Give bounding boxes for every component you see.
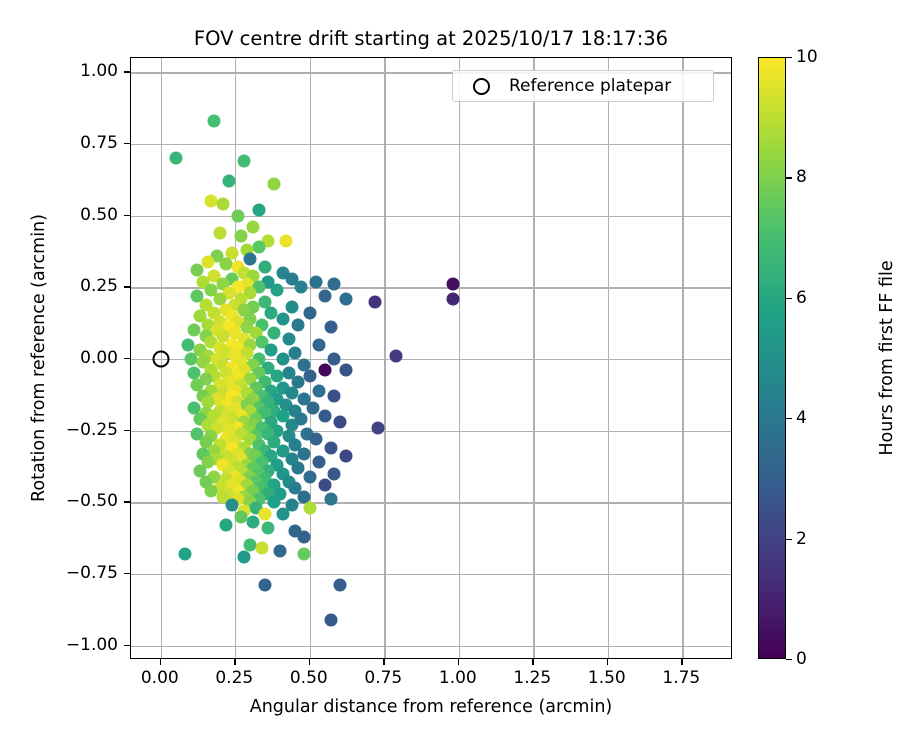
gridline-horizontal <box>131 216 731 217</box>
y-tick-mark <box>124 358 130 359</box>
scatter-point <box>276 312 289 325</box>
scatter-point <box>318 479 331 492</box>
scatter-point <box>247 516 260 529</box>
scatter-point <box>274 545 287 558</box>
scatter-point <box>339 450 352 463</box>
scatter-point <box>268 178 281 191</box>
scatter-point <box>253 241 266 254</box>
scatter-point <box>324 441 337 454</box>
scatter-point <box>259 507 272 520</box>
scatter-point <box>339 292 352 305</box>
x-tick-label: 1.50 <box>572 668 642 688</box>
scatter-point <box>291 318 304 331</box>
scatter-point <box>339 364 352 377</box>
colorbar-tick-mark <box>786 177 792 178</box>
scatter-point <box>318 364 331 377</box>
scatter-point <box>288 347 301 360</box>
scatter-point <box>220 519 233 532</box>
scatter-point <box>333 579 346 592</box>
x-tick-mark <box>532 659 533 665</box>
scatter-point <box>303 307 316 320</box>
y-tick-label: 0.25 <box>0 276 118 296</box>
scatter-point <box>223 175 236 188</box>
y-tick-label: −1.00 <box>0 635 118 655</box>
legend-item-label: Reference platepar <box>509 76 671 96</box>
scatter-point <box>291 461 304 474</box>
scatter-point <box>294 281 307 294</box>
x-tick-label: 0.50 <box>274 668 344 688</box>
scatter-point <box>309 433 322 446</box>
gridline-horizontal <box>131 144 731 145</box>
y-tick-mark <box>124 71 130 72</box>
scatter-point <box>184 353 197 366</box>
scatter-point <box>327 390 340 403</box>
gridline-vertical <box>682 58 683 658</box>
scatter-point <box>238 550 251 563</box>
scatter-point <box>259 261 272 274</box>
x-tick-mark <box>458 659 459 665</box>
gridline-horizontal <box>131 574 731 575</box>
page-title: FOV centre drift starting at 2025/10/17 … <box>130 27 732 51</box>
scatter-point <box>262 522 275 535</box>
scatter-point <box>178 547 191 560</box>
y-tick-label: 0.50 <box>0 205 118 225</box>
y-tick-label: 1.00 <box>0 61 118 81</box>
scatter-point <box>309 275 322 288</box>
colorbar-tick-mark <box>786 418 792 419</box>
colorbar-tick-mark <box>786 57 792 58</box>
scatter-point <box>303 502 316 515</box>
scatter-point <box>297 530 310 543</box>
x-tick-label: 0.00 <box>125 668 195 688</box>
scatter-point <box>324 493 337 506</box>
scatter-point <box>327 278 340 291</box>
scatter-point <box>318 410 331 423</box>
y-tick-mark <box>124 573 130 574</box>
scatter-point <box>372 421 385 434</box>
x-tick-mark <box>383 659 384 665</box>
x-tick-mark <box>160 659 161 665</box>
y-tick-mark <box>124 286 130 287</box>
y-tick-mark <box>124 501 130 502</box>
scatter-point <box>297 447 310 460</box>
scatter-point <box>271 284 284 297</box>
scatter-point <box>256 542 269 555</box>
scatter-point <box>327 353 340 366</box>
y-tick-label: −0.75 <box>0 563 118 583</box>
scatter-point <box>312 384 325 397</box>
scatter-point <box>303 370 316 383</box>
scatter-point <box>268 496 281 509</box>
open-circle-icon <box>473 78 490 95</box>
colorbar-tick-mark <box>786 659 792 660</box>
scatter-point <box>169 152 182 165</box>
scatter-point <box>247 221 260 234</box>
legend-marker-wrap <box>453 78 509 95</box>
scatter-point <box>208 115 221 128</box>
scatter-point <box>327 467 340 480</box>
gridline-vertical <box>310 58 311 658</box>
x-tick-label: 1.00 <box>423 668 493 688</box>
x-tick-mark <box>309 659 310 665</box>
scatter-point <box>369 295 382 308</box>
y-tick-mark <box>124 143 130 144</box>
y-tick-mark <box>124 645 130 646</box>
scatter-point <box>238 155 251 168</box>
scatter-point <box>268 327 281 340</box>
scatter-point <box>324 321 337 334</box>
colorbar-gradient <box>758 57 786 659</box>
scatter-point <box>297 547 310 560</box>
scatter-point <box>318 289 331 302</box>
colorbar-label: Hours from first FF file <box>876 57 898 659</box>
scatter-point <box>265 344 278 357</box>
x-tick-mark <box>234 659 235 665</box>
legend-box: Reference platepar <box>452 70 714 102</box>
gridline-vertical <box>533 58 534 658</box>
y-axis-label: Rotation from reference (arcmin) <box>28 57 50 659</box>
colorbar-tick-label: 2 <box>796 529 807 549</box>
scatter-point <box>235 229 248 242</box>
colorbar-tick-label: 0 <box>796 649 807 669</box>
x-tick-label: 0.25 <box>199 668 269 688</box>
colorbar-tick-label: 6 <box>796 288 807 308</box>
scatter-point <box>244 252 257 265</box>
colorbar-tick-label: 8 <box>796 167 807 187</box>
y-tick-label: 0.00 <box>0 348 118 368</box>
y-tick-mark <box>124 215 130 216</box>
scatter-point <box>217 198 230 211</box>
colorbar-tick-mark <box>786 298 792 299</box>
scatter-point <box>312 456 325 469</box>
x-tick-label: 1.75 <box>646 668 716 688</box>
gridline-horizontal <box>131 646 731 647</box>
x-tick-label: 0.75 <box>348 668 418 688</box>
scatter-point <box>202 255 215 268</box>
colorbar-tick-label: 4 <box>796 408 807 428</box>
x-tick-mark <box>607 659 608 665</box>
scatter-point <box>253 203 266 216</box>
x-axis-label: Angular distance from reference (arcmin) <box>130 696 732 718</box>
scatter-point <box>220 258 233 271</box>
scatter-point <box>446 278 459 291</box>
scatter-point <box>285 301 298 314</box>
gridline-vertical <box>459 58 460 658</box>
x-tick-label: 1.25 <box>497 668 567 688</box>
scatter-point <box>446 292 459 305</box>
scatter-point <box>324 613 337 626</box>
scatter-point <box>306 401 319 414</box>
scatter-point <box>232 209 245 222</box>
scatter-point <box>259 579 272 592</box>
scatter-point <box>205 195 218 208</box>
scatter-point <box>282 332 295 345</box>
y-tick-label: 0.75 <box>0 133 118 153</box>
scatter-point <box>303 470 316 483</box>
x-tick-mark <box>681 659 682 665</box>
reference-platepar-marker <box>152 351 169 368</box>
y-tick-label: −0.50 <box>0 491 118 511</box>
scatter-point <box>276 507 289 520</box>
scatter-point <box>390 350 403 363</box>
colorbar-tick-label: 10 <box>796 47 818 67</box>
plot-axes <box>130 57 732 659</box>
gridline-vertical <box>608 58 609 658</box>
gridline-vertical <box>384 58 385 658</box>
scatter-point <box>312 338 325 351</box>
y-tick-mark <box>124 430 130 431</box>
scatter-point <box>279 235 292 248</box>
scatter-point <box>333 416 346 429</box>
y-tick-label: −0.25 <box>0 420 118 440</box>
scatter-point <box>214 226 227 239</box>
scatter-point <box>276 353 289 366</box>
scatter-plot-figure: FOV centre drift starting at 2025/10/17 … <box>0 0 900 750</box>
colorbar-tick-mark <box>786 539 792 540</box>
